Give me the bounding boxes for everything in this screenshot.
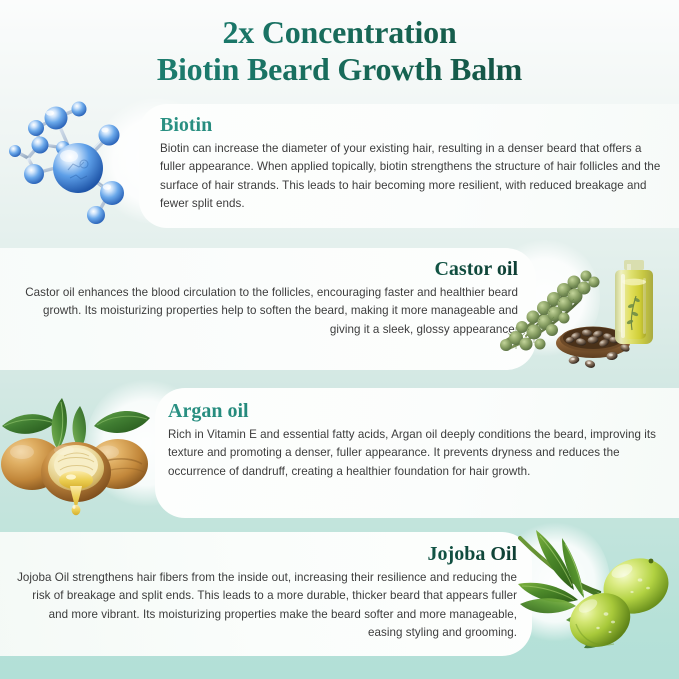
argan-nuts-and-leaves-illustration (0, 392, 152, 516)
section-heading-biotin: Biotin (160, 114, 665, 136)
infographic-canvas: 2x Concentration Biotin Beard Growth Bal… (0, 0, 679, 679)
molecule-illustration (6, 100, 146, 230)
section-castor: Castor oil Castor oil enhances the blood… (16, 258, 518, 339)
page-title: 2x Concentration Biotin Beard Growth Bal… (0, 14, 679, 88)
castor-bean-plant-and-oil-bottle-illustration (500, 252, 679, 370)
section-jojoba: Jojoba Oil Jojoba Oil strengthens hair f… (12, 543, 517, 642)
section-heading-jojoba: Jojoba Oil (12, 543, 517, 565)
green-olives-on-branch-illustration (518, 528, 679, 668)
title-line-2: Biotin Beard Growth Balm (0, 51, 679, 87)
section-argan: Argan oil Rich in Vitamin E and essentia… (168, 400, 670, 481)
section-heading-argan: Argan oil (168, 400, 670, 422)
section-body-biotin: Biotin can increase the diameter of your… (160, 140, 665, 213)
section-body-castor: Castor oil enhances the blood circulatio… (16, 284, 518, 339)
title-line-1: 2x Concentration (0, 14, 679, 50)
section-biotin: Biotin Biotin can increase the diameter … (160, 114, 665, 213)
section-heading-castor: Castor oil (16, 258, 518, 280)
section-body-argan: Rich in Vitamin E and essential fatty ac… (168, 426, 670, 481)
section-body-jojoba: Jojoba Oil strengthens hair fibers from … (12, 569, 517, 642)
